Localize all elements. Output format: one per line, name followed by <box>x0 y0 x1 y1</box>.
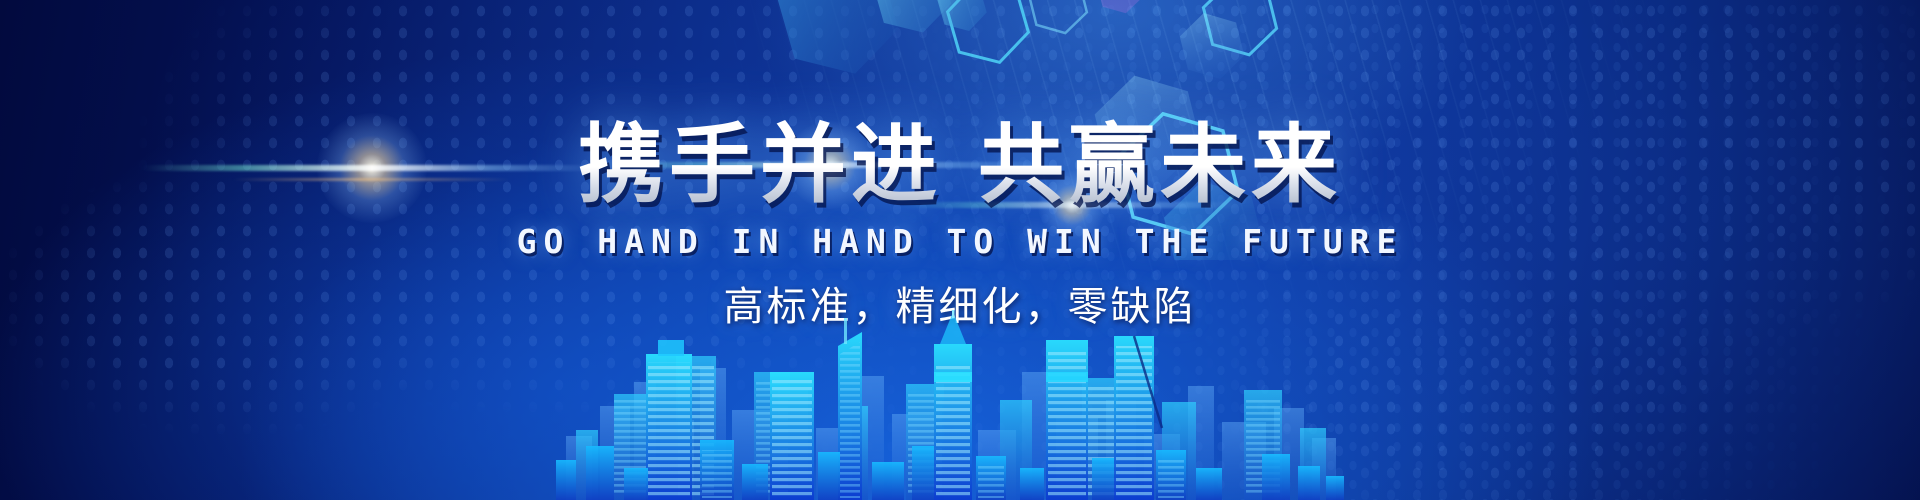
page-title: 携手并进共赢未来 <box>0 118 1920 212</box>
subtitle-english: GO HAND IN HAND TO WIN THE FUTURE <box>0 222 1920 262</box>
city-skyline-silhouette <box>0 310 1920 500</box>
page-title-right: 共赢未来 <box>978 117 1342 213</box>
promo-banner: 携手并进共赢未来 GO HAND IN HAND TO WIN THE FUTU… <box>0 0 1920 500</box>
page-title-left: 携手并进 <box>578 117 942 213</box>
